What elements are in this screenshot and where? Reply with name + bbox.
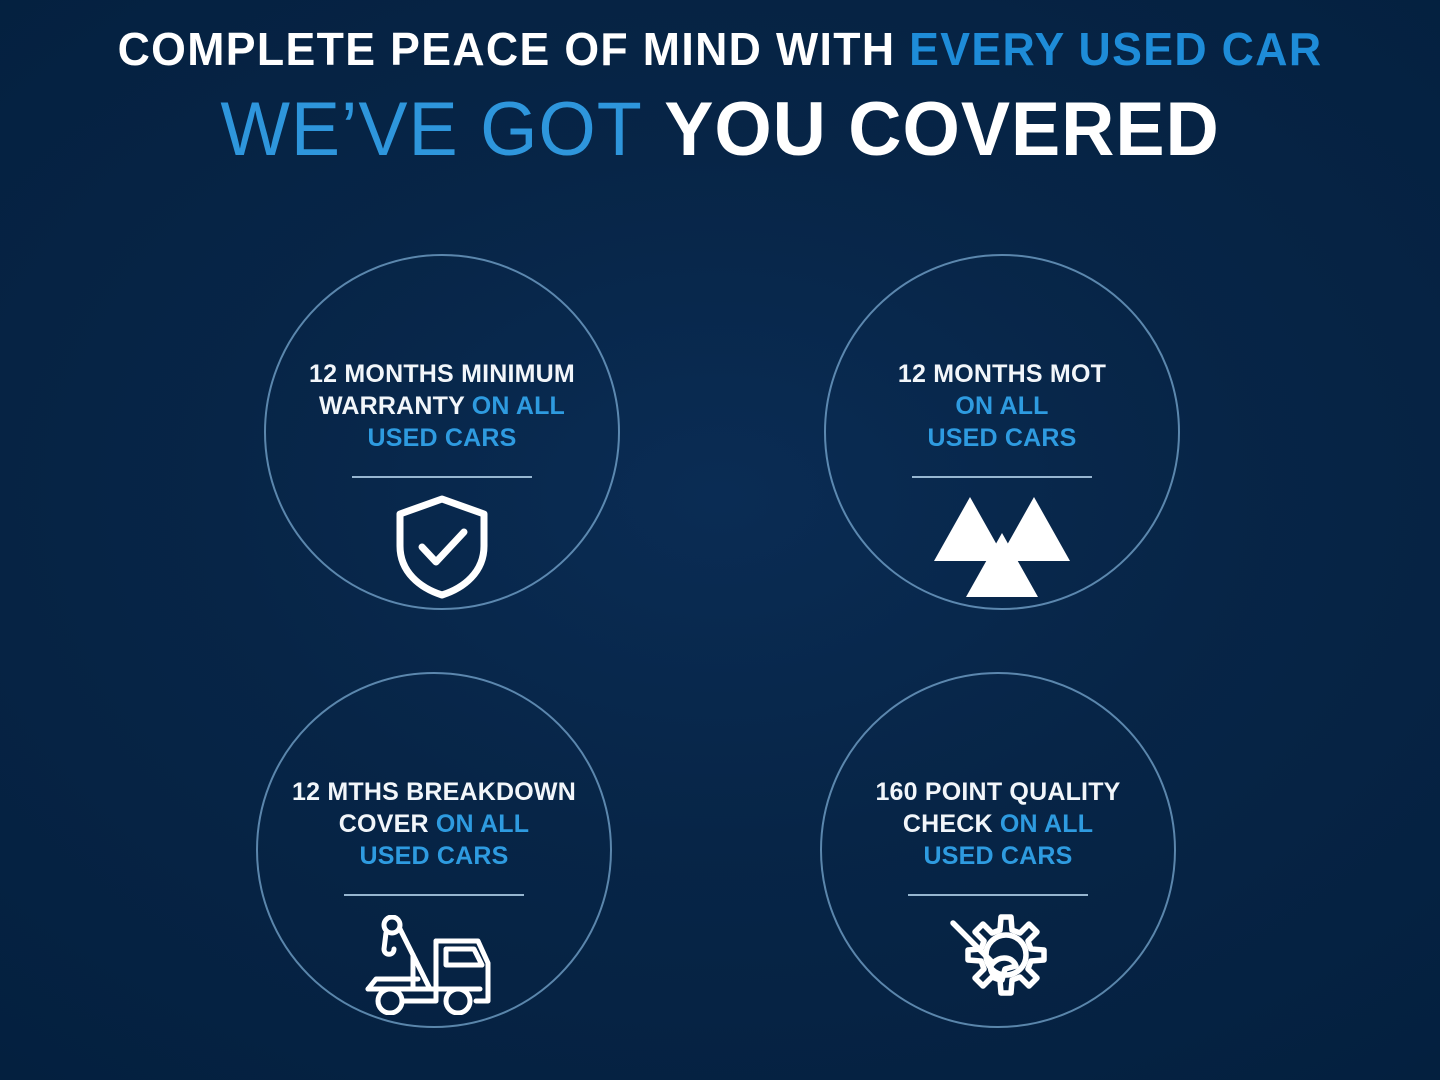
warranty-line-1: 12 MONTHS MINIMUM: [277, 358, 607, 390]
breakdown-line-1: 12 MTHS BREAKDOWN: [269, 776, 599, 808]
warranty-line-2: WARRANTY ON ALL: [277, 390, 607, 422]
headline-block: COMPLETE PEACE OF MIND WITH EVERY USED C…: [0, 26, 1440, 168]
warranty-line2-blue: ON ALL: [472, 392, 565, 420]
quality-line-2: CHECK ON ALL: [833, 808, 1163, 840]
benefit-card-quality-check-text: 160 POINT QUALITY CHECK ON ALL USED CARS: [833, 776, 1163, 872]
benefit-card-divider: [352, 476, 532, 478]
benefit-card-divider: [908, 894, 1088, 896]
quality-line-3: USED CARS: [833, 840, 1163, 872]
promo-banner: COMPLETE PEACE OF MIND WITH EVERY USED C…: [0, 0, 1440, 1080]
breakdown-line-2: COVER ON ALL: [269, 808, 599, 840]
mot-line-1: 12 MONTHS MOT: [837, 358, 1167, 390]
tow-truck-icon: [358, 910, 510, 1020]
headline-line1-white: COMPLETE PEACE OF MIND WITH: [118, 23, 896, 75]
benefit-card-mot-text: 12 MONTHS MOT ON ALL USED CARS: [837, 358, 1167, 454]
benefit-card-divider: [912, 476, 1092, 478]
quality-line-1: 160 POINT QUALITY: [833, 776, 1163, 808]
mot-line-3: USED CARS: [837, 422, 1167, 454]
quality-line2-blue: ON ALL: [1000, 810, 1093, 838]
warranty-line-3: USED CARS: [277, 422, 607, 454]
benefit-card-mot[interactable]: 12 MONTHS MOT ON ALL USED CARS: [824, 254, 1180, 610]
shield-check-icon: [392, 492, 492, 602]
headline-line-1: COMPLETE PEACE OF MIND WITH EVERY USED C…: [22, 26, 1419, 72]
breakdown-line2-white: COVER: [339, 810, 436, 838]
benefit-card-quality-check[interactable]: 160 POINT QUALITY CHECK ON ALL USED CARS: [820, 672, 1176, 1028]
headline-line2-white: YOU COVERED: [664, 87, 1219, 172]
mot-line-2: ON ALL: [837, 390, 1167, 422]
headline-line2-blue: WE’VE GOT: [220, 87, 642, 172]
benefit-card-divider: [344, 894, 524, 896]
warranty-line2-white: WARRANTY: [319, 392, 472, 420]
benefit-card-breakdown-text: 12 MTHS BREAKDOWN COVER ON ALL USED CARS: [269, 776, 599, 872]
benefit-card-warranty-text: 12 MONTHS MINIMUM WARRANTY ON ALL USED C…: [277, 358, 607, 454]
gear-wrench-icon: [941, 910, 1055, 1020]
benefit-card-breakdown[interactable]: 12 MTHS BREAKDOWN COVER ON ALL USED CARS: [256, 672, 612, 1028]
benefit-card-warranty[interactable]: 12 MONTHS MINIMUM WARRANTY ON ALL USED C…: [264, 254, 620, 610]
breakdown-line-3: USED CARS: [269, 840, 599, 872]
quality-line2-white: CHECK: [903, 810, 1000, 838]
headline-line1-blue: EVERY USED CAR: [909, 23, 1322, 75]
mot-triangles-icon: [932, 492, 1072, 602]
headline-line-2: WE’VE GOT YOU COVERED: [22, 92, 1419, 168]
breakdown-line2-blue: ON ALL: [436, 810, 529, 838]
